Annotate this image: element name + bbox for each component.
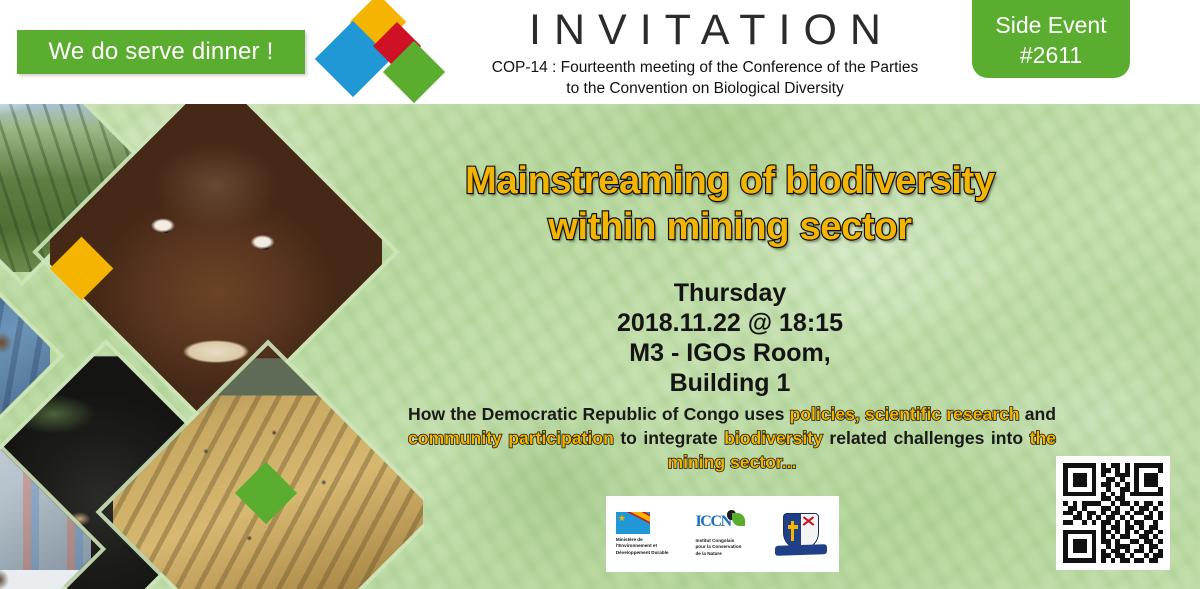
event-description: How the Democratic Republic of Congo use… (408, 402, 1056, 474)
crest-banner-icon (775, 544, 827, 556)
invitation-title: INVITATION (455, 4, 955, 56)
event-datetime: 2018.11.22 @ 18:15 (400, 308, 1060, 338)
qr-code[interactable] (1063, 463, 1163, 563)
logo-iccn: ICCN Institut Congolais pour la Conserva… (695, 511, 767, 557)
description-part-2: and (1020, 404, 1056, 424)
flag-star-icon: ★ (618, 514, 626, 523)
description-part-4: related challenges into (823, 428, 1030, 448)
dinner-note-text: We do serve dinner ! (48, 38, 273, 66)
crest-torch-top-icon (788, 525, 798, 529)
logo-drc-ministry: ★ Ministère de l'Environnement et Dévelo… (616, 512, 688, 556)
partner-logos-panel: ★ Ministère de l'Environnement et Dévelo… (606, 496, 839, 572)
logo-drc-caption-3: Développement Durable (616, 550, 669, 556)
cop14-logo (312, 2, 438, 100)
side-event-label: Side Event (995, 10, 1106, 40)
description-highlight-2: community participation (408, 428, 614, 448)
crest-shield-icon (775, 513, 827, 555)
event-room: M3 - IGOs Room, (400, 338, 1060, 368)
event-when-block: Thursday 2018.11.22 @ 18:15 M3 - IGOs Ro… (400, 278, 1060, 398)
invitation-poster: We do serve dinner ! INVITATION COP-14 :… (0, 0, 1200, 589)
logo-university-crest (775, 513, 829, 555)
cop-subtitle-line-1: COP-14 : Fourteenth meeting of the Confe… (455, 58, 955, 77)
qr-code-panel[interactable] (1056, 456, 1170, 570)
header-band: We do serve dinner ! INVITATION COP-14 :… (0, 0, 1200, 104)
event-title-line-2: within mining sector (400, 204, 1060, 250)
side-event-badge: Side Event #2611 (972, 0, 1130, 78)
event-title-line-1: Mainstreaming of biodiversity (400, 158, 1060, 204)
description-highlight-1: policies, scientific research (789, 404, 1019, 424)
event-day: Thursday (400, 278, 1060, 308)
logo-iccn-caption-3: de la Nature (695, 551, 721, 557)
crest-torch-icon (791, 521, 794, 541)
drc-flag-icon: ★ (616, 512, 650, 534)
dinner-note-banner: We do serve dinner ! (17, 30, 305, 74)
event-title: Mainstreaming of biodiversity within min… (400, 158, 1060, 250)
side-event-number: #2611 (1020, 40, 1082, 70)
description-highlight-3: biodiversity (724, 428, 823, 448)
iccn-mark-icon: ICCN (695, 511, 745, 535)
photo-collage (0, 104, 424, 589)
description-part-1: How the Democratic Republic of Congo use… (408, 404, 789, 424)
description-part-3: to integrate (614, 428, 724, 448)
cop-subtitle-line-2: to the Convention on Biological Diversit… (455, 79, 955, 98)
event-building: Building 1 (400, 368, 1060, 398)
invitation-heading-block: INVITATION COP-14 : Fourteenth meeting o… (455, 4, 955, 98)
